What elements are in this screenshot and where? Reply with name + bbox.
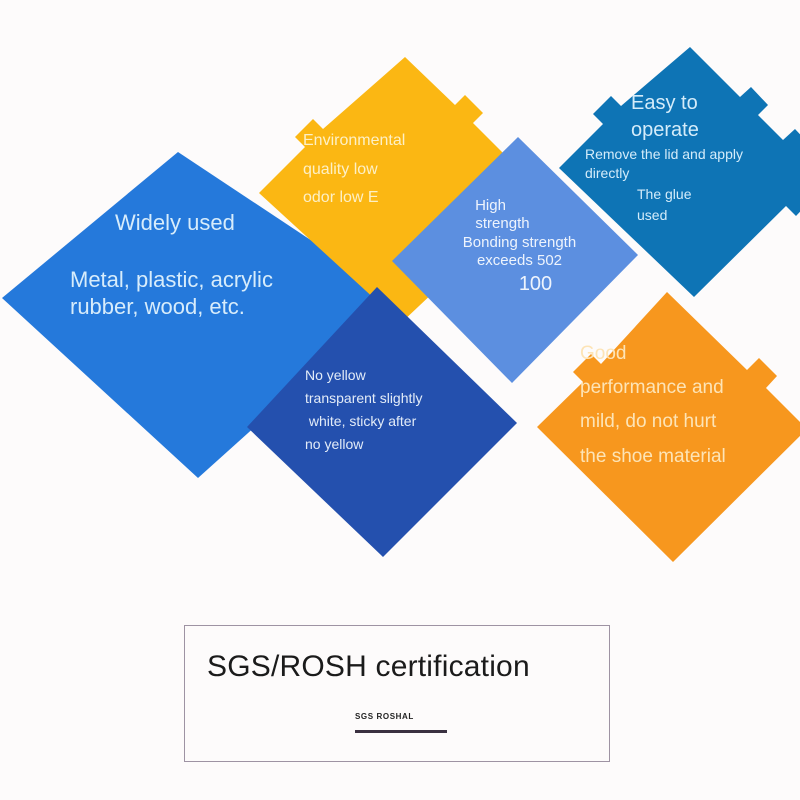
diamond-good-performance-shape bbox=[535, 290, 800, 565]
diamond-good-performance[interactable]: Good performance and mild, do not hurt t… bbox=[535, 290, 800, 565]
infographic-canvas: Widely used Metal, plastic, acrylic rubb… bbox=[0, 0, 800, 800]
certification-title: SGS/ROSH certification bbox=[207, 650, 530, 684]
certification-underline bbox=[355, 730, 447, 733]
diamond-no-yellow[interactable]: No yellow transparent slightly white, st… bbox=[245, 285, 520, 560]
certification-panel: SGS/ROSH certification SGS ROSHAL bbox=[184, 625, 610, 762]
certification-subtitle: SGS ROSHAL bbox=[355, 712, 414, 721]
diamond-no-yellow-shape bbox=[245, 285, 520, 560]
